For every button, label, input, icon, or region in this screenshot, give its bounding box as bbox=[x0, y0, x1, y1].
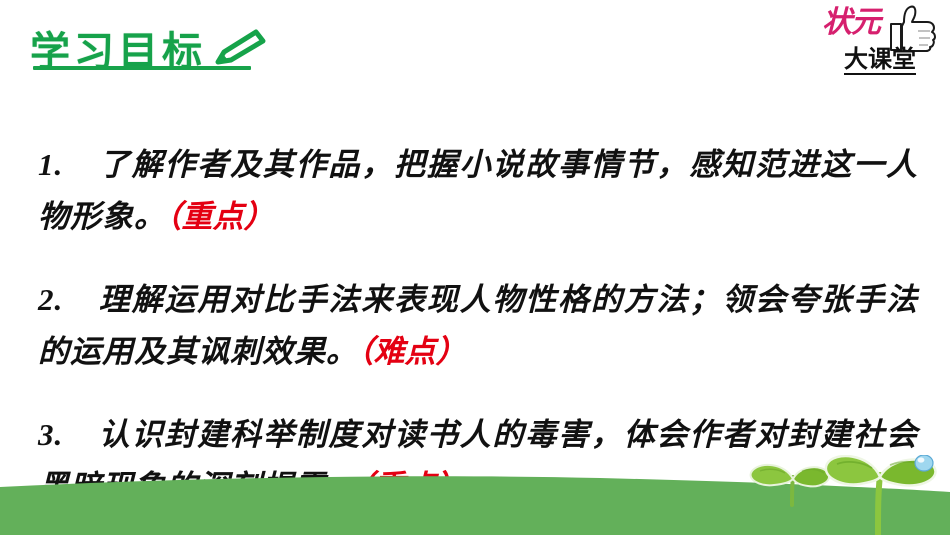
brand-logo: 状元 大课堂 bbox=[816, 4, 944, 90]
sprout-large-icon bbox=[826, 455, 936, 535]
goal-number: 3. bbox=[38, 409, 98, 461]
goal-tag: （重点） bbox=[166, 199, 275, 234]
brand-logo-top-text: 状元 bbox=[822, 8, 880, 38]
goal-tag: （难点） bbox=[358, 334, 467, 369]
slide-canvas: 学习目标 状元 大课堂 1.了解作者及其作品，把握小说故事情节，感知 bbox=[0, 0, 950, 535]
goal-number: 2. bbox=[38, 274, 98, 326]
goal-item: 1.了解作者及其作品，把握小说故事情节，感知范进这一人物形象。（重点） bbox=[38, 139, 918, 243]
title-underline bbox=[33, 66, 251, 70]
goal-text: 理解运用对比手法来表现人物性格的方法；领会夸张手法的运用及其讽刺效果。 bbox=[38, 282, 918, 369]
brand-logo-bottom-text: 大课堂 bbox=[844, 48, 916, 75]
goal-number: 1. bbox=[38, 139, 98, 191]
sprout-decoration bbox=[730, 455, 950, 535]
water-drop-icon bbox=[915, 455, 933, 471]
sprout-small-icon bbox=[751, 465, 830, 505]
thumbs-up-icon bbox=[888, 4, 940, 52]
page-title: 学习目标 bbox=[30, 10, 270, 72]
goal-item: 2.理解运用对比手法来表现人物性格的方法；领会夸张手法的运用及其讽刺效果。（难点… bbox=[38, 274, 918, 378]
pencil-icon bbox=[210, 26, 270, 68]
